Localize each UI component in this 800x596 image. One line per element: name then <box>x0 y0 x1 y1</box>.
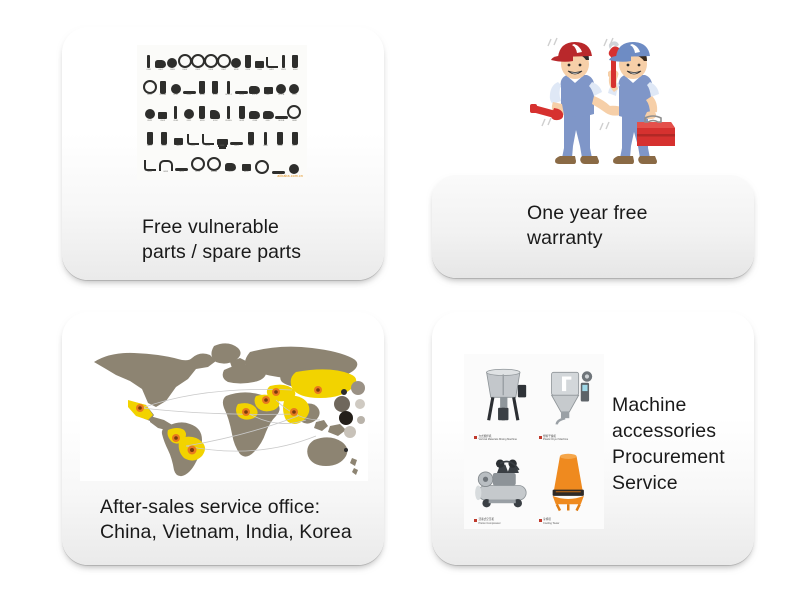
card-after-sales[interactable]: After-sales service office: China, Vietn… <box>62 312 384 565</box>
parts-row: 0648 0698 0651 0522 0660B 0694 0616 <box>143 152 301 175</box>
vertical-mixer-icon <box>472 360 535 435</box>
spare-parts-grid-photo: 0301 0302 0303 0304 0305 0306 0307 0308 … <box>137 45 307 180</box>
machines-grid: 立式搅拌机 Vertical Materials Mixing Machine <box>472 360 599 525</box>
cooling-tower-icon <box>537 444 600 519</box>
parts-row: 0301 0302 0303 0304 0305 0306 0307 0308 … <box>143 49 301 72</box>
bullet-icon <box>539 436 542 439</box>
card-label-after-sales: After-sales service office: China, Vietn… <box>100 495 352 545</box>
world-map-svg <box>80 334 368 481</box>
machine-item-compressor: 活塞式空压机 Piston Compressor <box>472 444 535 526</box>
spare-parts-grid: 0301 0302 0303 0304 0305 0306 0307 0308 … <box>143 49 301 174</box>
bullet-icon <box>539 519 542 522</box>
world-map-service-offices <box>80 334 368 481</box>
feature-card-board: 0301 0302 0303 0304 0305 0306 0307 0308 … <box>0 0 800 596</box>
machine-item-mixer: 立式搅拌机 Vertical Materials Mixing Machine <box>472 360 535 442</box>
two-mechanics-illustration <box>504 30 684 180</box>
card-spare-parts[interactable]: 0301 0302 0303 0304 0305 0306 0307 0308 … <box>62 27 384 280</box>
parts-row: 0647 0590 0661 0552 0533 0598 0597 0655 … <box>143 126 301 149</box>
air-compressor-icon <box>472 444 535 519</box>
machine-accessories-photo-grid: 立式搅拌机 Vertical Materials Mixing Machine <box>464 354 604 529</box>
mechanics-svg <box>504 30 684 180</box>
machine-item-cooling-tower: 冷却塔 Cooling Tower <box>537 444 600 526</box>
card-label-spare-parts: Free vulnerable parts / spare parts <box>142 215 301 265</box>
parts-row: 0528 0563 0549 0551 0530 0552 0544G 0633… <box>143 100 301 123</box>
bullet-icon <box>474 436 477 439</box>
machine-caption: 塑料干燥机 Plastic Dryer Machine <box>537 435 600 442</box>
machine-item-dryer: 塑料干燥机 Plastic Dryer Machine <box>537 360 600 442</box>
card-accessories[interactable]: 立式搅拌机 Vertical Materials Mixing Machine <box>432 312 754 565</box>
card-label-warranty: One year free warranty <box>527 201 648 251</box>
machine-caption: 活塞式空压机 Piston Compressor <box>472 518 535 525</box>
parts-row: 0205 0206A 0207 0508 0509 0512 0610-1 05… <box>143 75 301 98</box>
machine-caption: 立式搅拌机 Vertical Materials Mixing Machine <box>472 435 535 442</box>
card-warranty[interactable]: One year free warranty <box>432 175 754 278</box>
plastic-dryer-icon <box>537 360 600 435</box>
card-label-accessories: Machine accessories Procurement Service <box>612 392 725 496</box>
watermark-text: alibaba.com.cn <box>277 174 303 178</box>
machine-caption: 冷却塔 Cooling Tower <box>537 518 600 525</box>
mechanic-right <box>608 41 675 164</box>
bullet-icon <box>474 519 477 522</box>
